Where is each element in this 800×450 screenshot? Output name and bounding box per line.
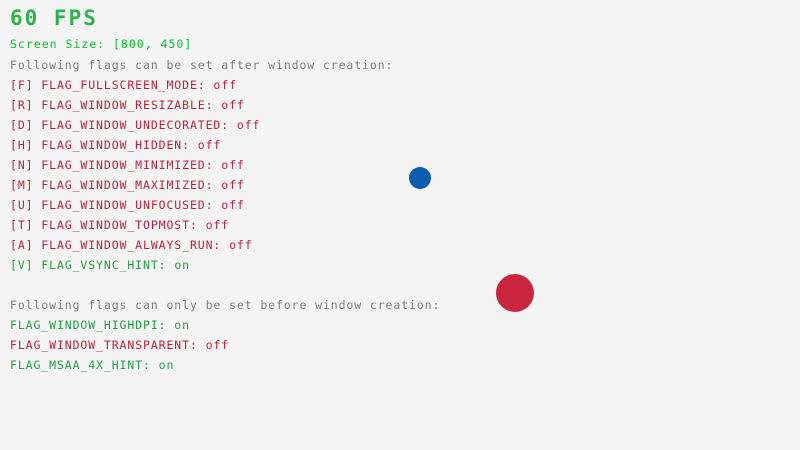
flag-row[interactable]: [M] FLAG_WINDOW_MAXIMIZED: off [10,179,245,191]
flag-value: off [221,98,244,112]
flag-key: [T] [10,218,41,232]
flag-label: FLAG_WINDOW_HIDDEN: [41,138,197,152]
flag-value: off [221,158,244,172]
flag-value: on [174,318,190,332]
flag-key: [D] [10,118,41,132]
flag-row[interactable]: [A] FLAG_WINDOW_ALWAYS_RUN: off [10,239,253,251]
flag-value: off [229,238,252,252]
section-header-after-creation: Following flags can be set after window … [10,59,393,71]
flag-row: FLAG_WINDOW_HIGHDPI: on [10,319,190,331]
flag-label: FLAG_VSYNC_HINT: [41,258,174,272]
flag-value: off [206,218,229,232]
flag-row[interactable]: [F] FLAG_FULLSCREEN_MODE: off [10,79,237,91]
flag-key: [N] [10,158,41,172]
flag-key: [F] [10,78,41,92]
flag-key: [R] [10,98,41,112]
flag-label: FLAG_WINDOW_RESIZABLE: [41,98,221,112]
flag-key: [M] [10,178,41,192]
flag-row: FLAG_MSAA_4X_HINT: on [10,359,174,371]
flag-row[interactable]: [T] FLAG_WINDOW_TOPMOST: off [10,219,229,231]
section-header-before-creation: Following flags can only be set before w… [10,299,440,311]
ball-red [496,274,534,312]
flag-label: FLAG_WINDOW_TRANSPARENT: [10,338,206,352]
flag-label: FLAG_WINDOW_HIGHDPI: [10,318,174,332]
flag-row[interactable]: [U] FLAG_WINDOW_UNFOCUSED: off [10,199,245,211]
ball-blue [409,167,431,189]
flag-row[interactable]: [N] FLAG_WINDOW_MINIMIZED: off [10,159,245,171]
flag-row[interactable]: [H] FLAG_WINDOW_HIDDEN: off [10,139,221,151]
flag-value: off [237,118,260,132]
flag-value: off [213,78,236,92]
flag-value: off [198,138,221,152]
flag-key: [H] [10,138,41,152]
flag-key: [V] [10,258,41,272]
flag-value: off [221,198,244,212]
flag-row[interactable]: [V] FLAG_VSYNC_HINT: on [10,259,190,271]
flag-row[interactable]: [D] FLAG_WINDOW_UNDECORATED: off [10,119,260,131]
flag-value: off [206,338,229,352]
flag-label: FLAG_WINDOW_ALWAYS_RUN: [41,238,229,252]
flag-key: [A] [10,238,41,252]
flag-value: off [221,178,244,192]
screen-size-label: Screen Size: [800, 450] [10,38,192,50]
flag-row: FLAG_WINDOW_TRANSPARENT: off [10,339,229,351]
flag-label: FLAG_FULLSCREEN_MODE: [41,78,213,92]
flag-label: FLAG_WINDOW_MAXIMIZED: [41,178,221,192]
flag-label: FLAG_WINDOW_MINIMIZED: [41,158,221,172]
raylib-window: 60 FPS Screen Size: [800, 450] Following… [0,0,800,450]
flag-label: FLAG_WINDOW_TOPMOST: [41,218,205,232]
flag-key: [U] [10,198,41,212]
flag-label: FLAG_WINDOW_UNDECORATED: [41,118,237,132]
fps-counter: 60 FPS [10,6,98,30]
flag-row[interactable]: [R] FLAG_WINDOW_RESIZABLE: off [10,99,245,111]
flag-value: on [174,258,190,272]
flag-label: FLAG_MSAA_4X_HINT: [10,358,159,372]
flag-value: on [159,358,175,372]
flag-label: FLAG_WINDOW_UNFOCUSED: [41,198,221,212]
